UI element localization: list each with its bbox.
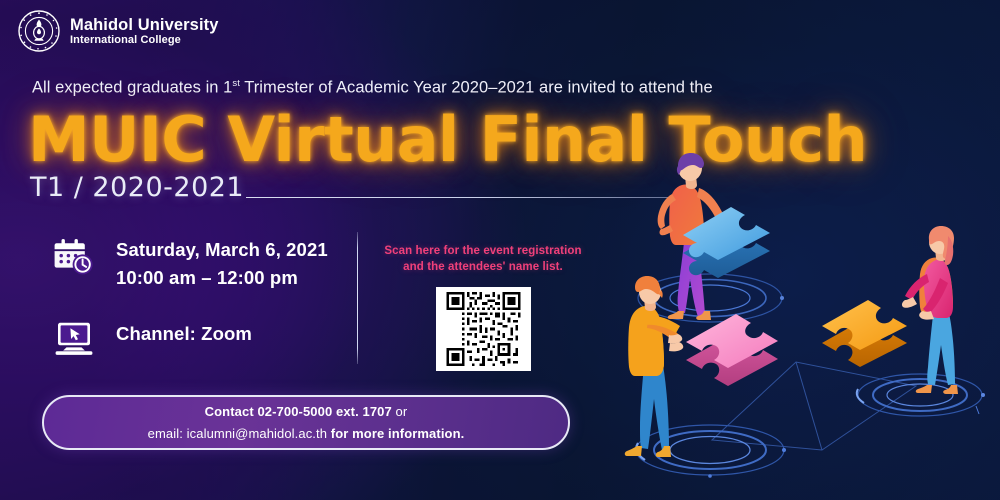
lead-text-before: All expected graduates in 1 xyxy=(32,79,232,97)
tech-platform-bottom-left xyxy=(634,425,786,478)
contact-phone: Contact 02-700-5000 ext. 1707 xyxy=(205,404,392,419)
tech-platform-right xyxy=(857,374,985,416)
orange-puzzle-piece xyxy=(822,300,907,367)
mahidol-seal-icon xyxy=(18,10,60,52)
three-people-assembling-puzzle-illustration xyxy=(600,150,1000,500)
poster-canvas: Mahidol University International College… xyxy=(0,0,1000,500)
contact-pill[interactable]: Contact 02-700-5000 ext. 1707 or email: … xyxy=(42,395,570,450)
desktop-cursor-icon xyxy=(52,320,96,356)
info-row-channel: Channel: Zoom xyxy=(52,320,352,356)
contact-line2: email: icalumni@mahidol.ac.th for more i… xyxy=(148,423,465,444)
brand-name-line2: International College xyxy=(70,34,219,46)
event-info-list: Saturday, March 6, 2021 10:00 am – 12:00… xyxy=(52,236,352,356)
calendar-clock-icon xyxy=(52,236,96,276)
pink-puzzle-piece xyxy=(686,314,778,386)
event-date: Saturday, March 6, 2021 xyxy=(116,236,328,264)
tech-platform-top xyxy=(638,274,784,322)
qr-caption-line1: Scan here for the event registration xyxy=(383,243,583,259)
lead-text-after: Trimester of Academic Year 2020–2021 are… xyxy=(240,79,713,97)
event-time: 10:00 am – 12:00 pm xyxy=(116,264,328,292)
term-subtitle: T1 / 2020-2021 xyxy=(30,172,244,203)
qr-registration-block: Scan here for the event registration and… xyxy=(383,243,583,371)
event-channel: Channel: Zoom xyxy=(116,320,252,348)
qr-caption-line2: and the attendees' name list. xyxy=(383,259,583,275)
qr-caption: Scan here for the event registration and… xyxy=(383,243,583,276)
contact-line1-rest: or xyxy=(392,404,407,419)
subtitle-row: T1 / 2020-2021 xyxy=(30,172,670,203)
qr-code[interactable] xyxy=(436,287,531,371)
lead-text: All expected graduates in 1st Trimester … xyxy=(32,78,792,98)
contact-line1: Contact 02-700-5000 ext. 1707 or xyxy=(205,401,408,422)
lead-text-ordinal: st xyxy=(232,78,240,89)
info-row-datetime: Saturday, March 6, 2021 10:00 am – 12:00… xyxy=(52,236,352,292)
contact-line2-rest: for more information. xyxy=(327,426,464,441)
brand-name-line1: Mahidol University xyxy=(70,16,219,34)
contact-email: email: icalumni@mahidol.ac.th xyxy=(148,426,327,441)
section-divider xyxy=(357,232,358,364)
figure-with-orange-piece xyxy=(902,226,958,394)
figure-with-pink-piece xyxy=(625,276,684,457)
mahidol-logo: Mahidol University International College xyxy=(18,10,219,52)
